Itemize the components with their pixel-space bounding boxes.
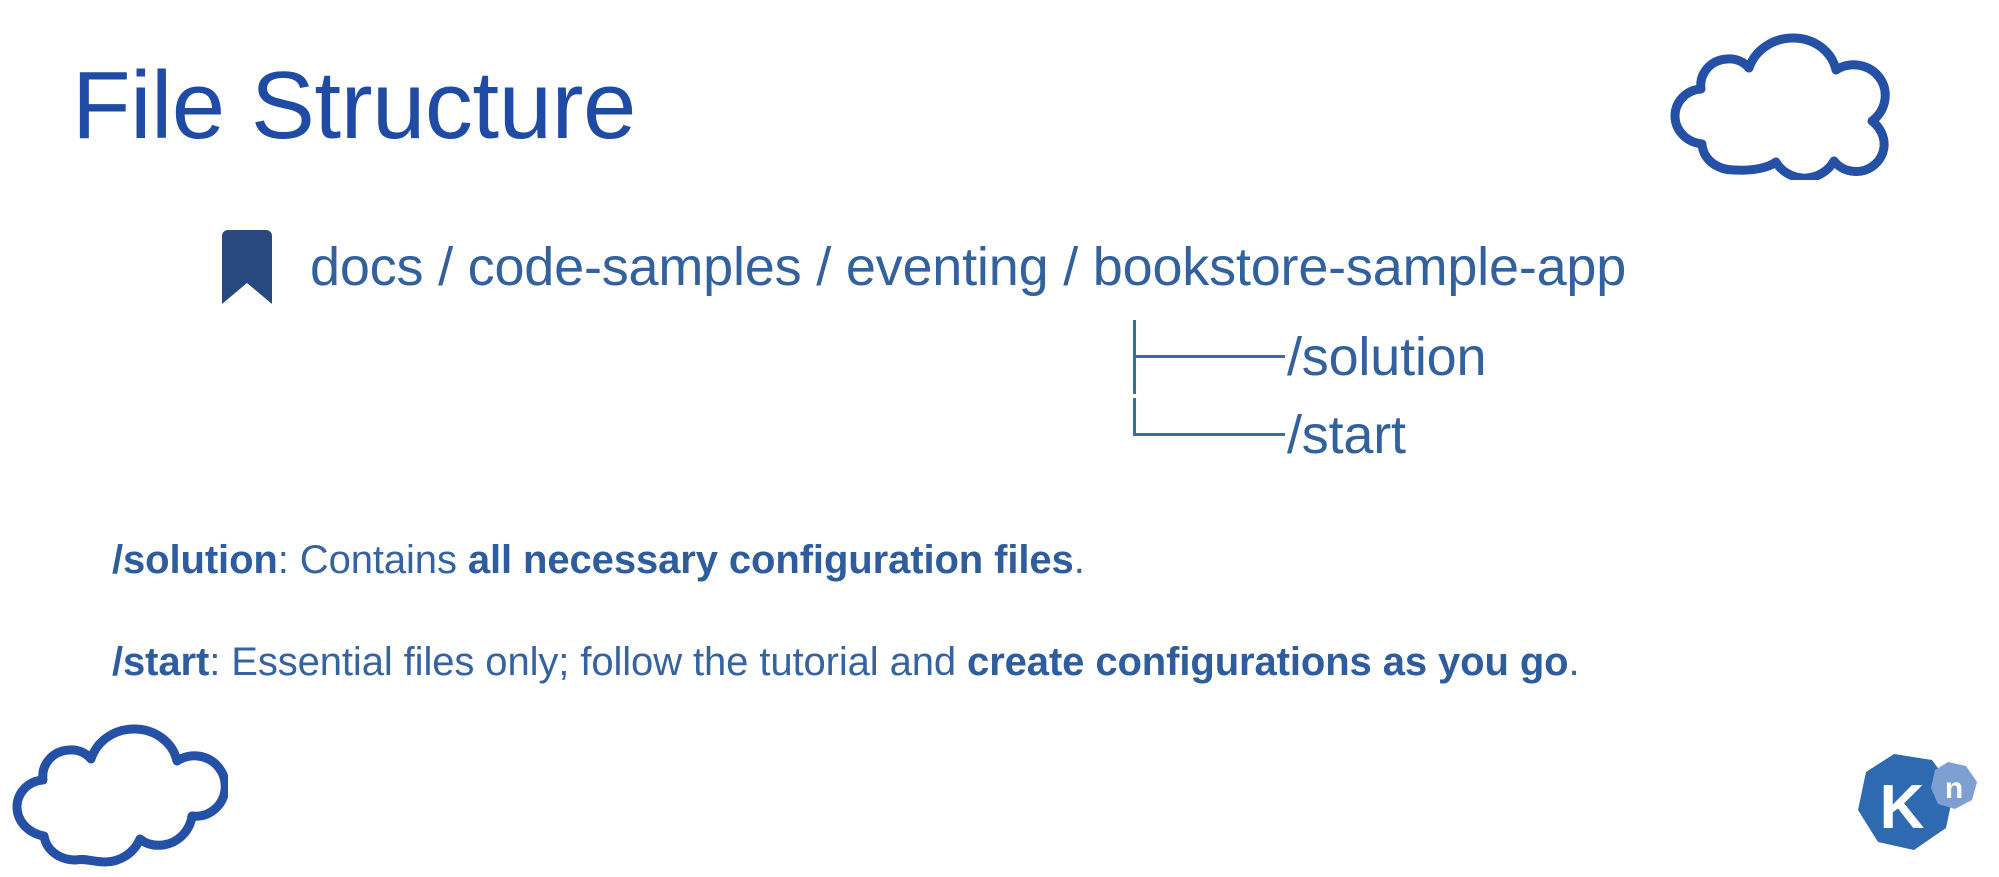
cloud-icon-top-right — [1663, 28, 1899, 180]
knative-logo: K n — [1842, 748, 1982, 862]
body-bold-start: /start — [112, 640, 209, 684]
body-text-start-1: : Essential files only; follow the tutor… — [209, 640, 967, 684]
file-path-text: docs / code-samples / eventing / booksto… — [310, 240, 1626, 294]
body-text-solution-1: : Contains — [278, 538, 468, 582]
body-text-start-2: . — [1569, 640, 1580, 684]
body-bold-solution-emphasis: all necessary configuration files — [468, 538, 1074, 582]
tree-branch-connector-last — [1133, 396, 1285, 474]
body-bold-start-emphasis: create configurations as you go — [967, 640, 1568, 684]
body-bold-solution: /solution — [112, 538, 278, 582]
tree-arm — [1133, 433, 1285, 436]
file-tree: /solution /start — [1133, 318, 1486, 474]
tree-branch-connector-mid — [1133, 318, 1285, 396]
tree-row-start: /start — [1133, 396, 1486, 474]
bookmark-icon — [216, 228, 278, 306]
tree-stem — [1133, 398, 1136, 436]
knative-logo-n: n — [1945, 772, 1963, 805]
body-text-solution-2: . — [1074, 538, 1085, 582]
body-line-solution: /solution: Contains all necessary config… — [112, 535, 1085, 585]
tree-label-solution: /solution — [1287, 330, 1486, 384]
page-title: File Structure — [72, 52, 636, 160]
tree-arm — [1133, 355, 1285, 358]
slide-canvas: File Structure docs / code-samples / eve… — [0, 0, 1999, 877]
tree-label-start: /start — [1287, 408, 1406, 462]
tree-row-solution: /solution — [1133, 318, 1486, 396]
body-line-start: /start: Essential files only; follow the… — [112, 637, 1580, 687]
knative-logo-k: K — [1880, 773, 1925, 842]
cloud-icon-bottom-left — [6, 718, 228, 870]
file-path-row: docs / code-samples / eventing / booksto… — [216, 228, 1626, 306]
